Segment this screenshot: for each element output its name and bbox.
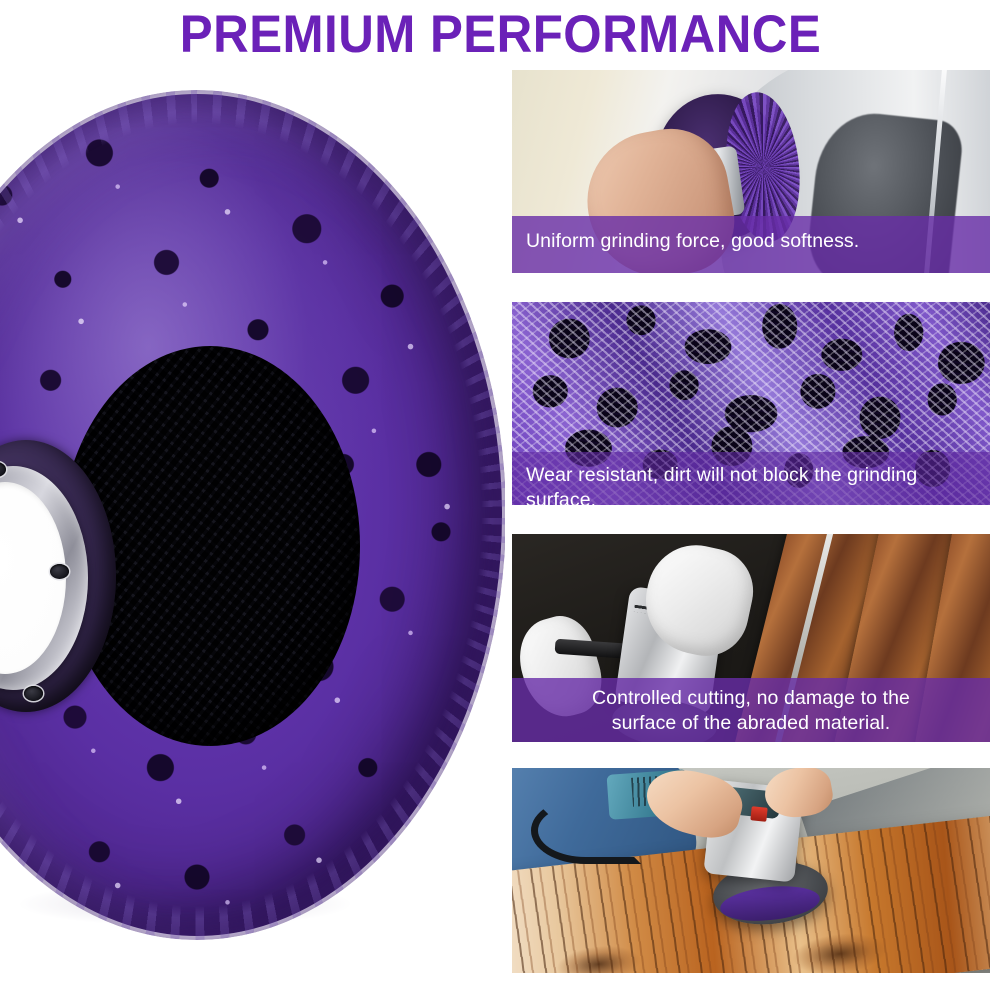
wood-knot <box>789 928 889 973</box>
panel-caption: Controlled cutting, no damage to the sur… <box>512 678 990 742</box>
page-title: PREMIUM PERFORMANCE <box>35 4 966 66</box>
abrasive-disc <box>0 94 502 936</box>
product-feature-graphic: PREMIUM PERFORMANCE <box>0 0 1001 1001</box>
hero-product-image <box>0 76 505 966</box>
flange-bolt-hole <box>24 686 43 701</box>
panel-caption-line-1: Controlled cutting, no damage to the <box>526 686 976 711</box>
panel-caption: Uniform grinding force, good softness. <box>512 216 990 273</box>
flange-bolt-hole <box>50 564 69 579</box>
photo-wood-sanding <box>512 768 990 973</box>
feature-panel-grinding-force: Uniform grinding force, good softness. <box>512 70 990 273</box>
feature-panel-controlled-cutting: Controlled cutting, no damage to the sur… <box>512 534 990 742</box>
feature-panel-wood-sanding <box>512 768 990 973</box>
grinder-power-switch <box>750 806 768 822</box>
panel-caption-line-2: surface of the abraded material. <box>526 711 976 736</box>
wood-knot <box>554 941 643 973</box>
panel-caption: Wear resistant, dirt will not block the … <box>512 452 990 505</box>
feature-panel-wear-resistant: Wear resistant, dirt will not block the … <box>512 302 990 505</box>
